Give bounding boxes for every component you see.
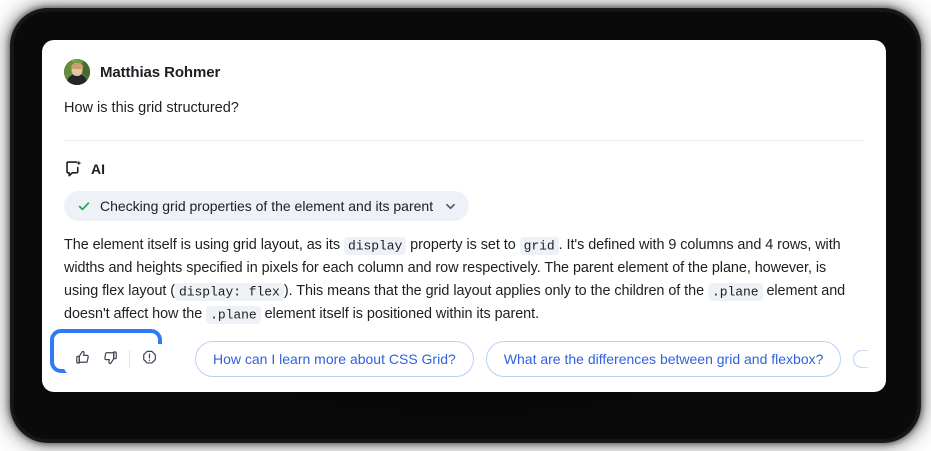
suggestion-chips: How can I learn more about CSS Grid? Wha… xyxy=(195,341,886,377)
check-icon xyxy=(77,199,91,213)
thumbs-up-icon xyxy=(74,349,91,369)
ai-sparkle-icon xyxy=(64,159,83,178)
thumbs-up-button[interactable] xyxy=(68,346,96,372)
feedback-button-group xyxy=(64,344,167,374)
feedback-controls xyxy=(64,344,167,374)
ai-label: AI xyxy=(91,161,105,177)
inline-code: .plane xyxy=(708,283,763,301)
thumbs-down-button[interactable] xyxy=(96,346,124,372)
inline-code: grid xyxy=(520,237,559,255)
user-message: How is this grid structured? xyxy=(42,85,886,118)
inline-code: .plane xyxy=(206,306,261,324)
thumbs-down-icon xyxy=(102,349,119,369)
inline-code: display xyxy=(344,237,406,255)
status-pill-label: Checking grid properties of the element … xyxy=(100,198,433,214)
report-exclamation-icon xyxy=(141,349,158,369)
user-header: Matthias Rohmer xyxy=(42,40,886,85)
chat-card: Matthias Rohmer How is this grid structu… xyxy=(42,40,886,392)
report-button[interactable] xyxy=(135,346,163,372)
suggestion-chip[interactable] xyxy=(853,350,868,368)
avatar xyxy=(64,59,90,85)
chevron-down-icon[interactable] xyxy=(442,200,457,213)
suggestion-chip[interactable]: What are the differences between grid an… xyxy=(486,341,842,377)
ai-header: AI xyxy=(42,141,886,178)
suggestion-chip[interactable]: How can I learn more about CSS Grid? xyxy=(195,341,474,377)
screenshot-stage: Matthias Rohmer How is this grid structu… xyxy=(0,0,931,451)
response-footer: How can I learn more about CSS Grid? Wha… xyxy=(42,326,886,392)
ai-answer-text: The element itself is using grid layout,… xyxy=(42,221,886,326)
feedback-divider xyxy=(129,350,130,368)
inline-code: display: flex xyxy=(175,283,284,301)
user-name: Matthias Rohmer xyxy=(100,64,220,81)
status-pill[interactable]: Checking grid properties of the element … xyxy=(64,191,469,221)
